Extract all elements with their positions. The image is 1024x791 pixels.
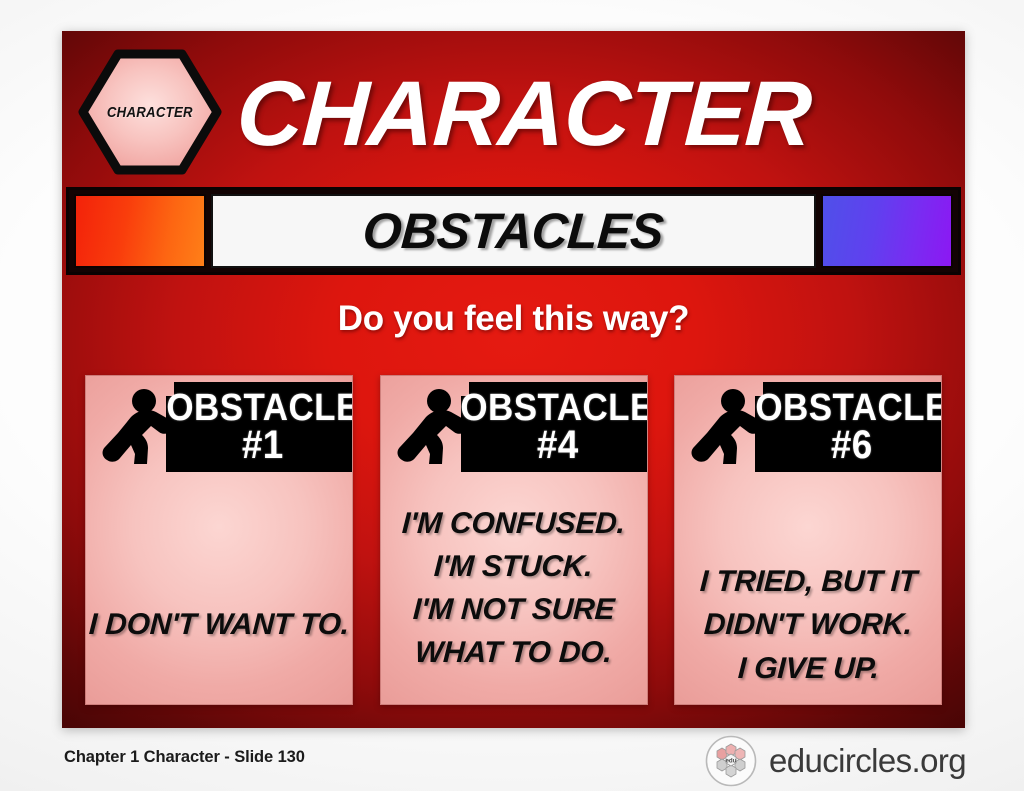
obstacle-card[interactable]: OBSTACLE #4 I'M CONFUSED. I'M STUCK. I'M… bbox=[380, 375, 648, 705]
card-header: OBSTACLE #1 bbox=[86, 376, 352, 472]
banner-number: #6 bbox=[831, 426, 873, 464]
obstacle-card[interactable]: OBSTACLE #6 I TRIED, BUT IT DIDN'T WORK.… bbox=[674, 375, 942, 705]
card-banner: OBSTACLE #6 bbox=[763, 382, 941, 472]
educircles-logo-icon: edu bbox=[705, 735, 757, 787]
banner-word: OBSTACLE bbox=[166, 390, 353, 426]
brand-name: educircles.org bbox=[769, 742, 966, 780]
banner-number: #1 bbox=[242, 426, 284, 464]
card-text-line: I GIVE UP. bbox=[736, 647, 879, 690]
character-hex-badge: CHARACTER bbox=[78, 49, 222, 175]
question-text: Do you feel this way? bbox=[62, 299, 965, 339]
obstacle-card[interactable]: OBSTACLE #1 I DON'T WANT TO. bbox=[85, 375, 353, 705]
slide-canvas: CHARACTER CHARACTER OBSTACLES Do you fee… bbox=[62, 31, 965, 728]
card-text-line: DIDN'T WORK. bbox=[703, 603, 913, 646]
card-text-line: WHAT TO DO. bbox=[414, 631, 613, 674]
card-text-line: I'M STUCK. bbox=[433, 545, 594, 588]
card-banner: OBSTACLE #1 bbox=[174, 382, 352, 472]
banner-word: OBSTACLE bbox=[755, 390, 942, 426]
card-header: OBSTACLE #6 bbox=[675, 376, 941, 472]
subtitle-text: OBSTACLES bbox=[361, 202, 665, 260]
card-text-line: I TRIED, BUT IT bbox=[698, 560, 917, 603]
card-text-line: I'M CONFUSED. bbox=[401, 502, 626, 545]
brand-footer[interactable]: edu educircles.org bbox=[705, 735, 966, 787]
subtitle-box: OBSTACLES bbox=[211, 194, 816, 268]
card-text-line: I'M NOT SURE bbox=[412, 588, 616, 631]
color-swatch-purple bbox=[821, 194, 953, 268]
card-banner: OBSTACLE #4 bbox=[469, 382, 647, 472]
banner-word: OBSTACLE bbox=[461, 390, 648, 426]
hex-badge-label: CHARACTER bbox=[107, 104, 193, 121]
footer-caption: Chapter 1 Character - Slide 130 bbox=[64, 748, 305, 767]
slide-page: CHARACTER CHARACTER OBSTACLES Do you fee… bbox=[0, 0, 1024, 791]
subtitle-bar: OBSTACLES bbox=[66, 187, 961, 275]
brand-mark-label: edu bbox=[725, 758, 736, 765]
card-body: I TRIED, BUT IT DIDN'T WORK. I GIVE UP. bbox=[675, 472, 941, 704]
card-body: I'M CONFUSED. I'M STUCK. I'M NOT SURE WH… bbox=[381, 472, 647, 704]
color-swatch-orange bbox=[74, 194, 206, 268]
slide-header: CHARACTER CHARACTER bbox=[62, 31, 965, 183]
card-body: I DON'T WANT TO. bbox=[86, 472, 352, 704]
card-text-line: I DON'T WANT TO. bbox=[88, 603, 350, 646]
banner-number: #4 bbox=[537, 426, 579, 464]
card-header: OBSTACLE #4 bbox=[381, 376, 647, 472]
obstacle-card-list: OBSTACLE #1 I DON'T WANT TO. bbox=[85, 375, 942, 705]
page-title: CHARACTER bbox=[234, 59, 940, 169]
